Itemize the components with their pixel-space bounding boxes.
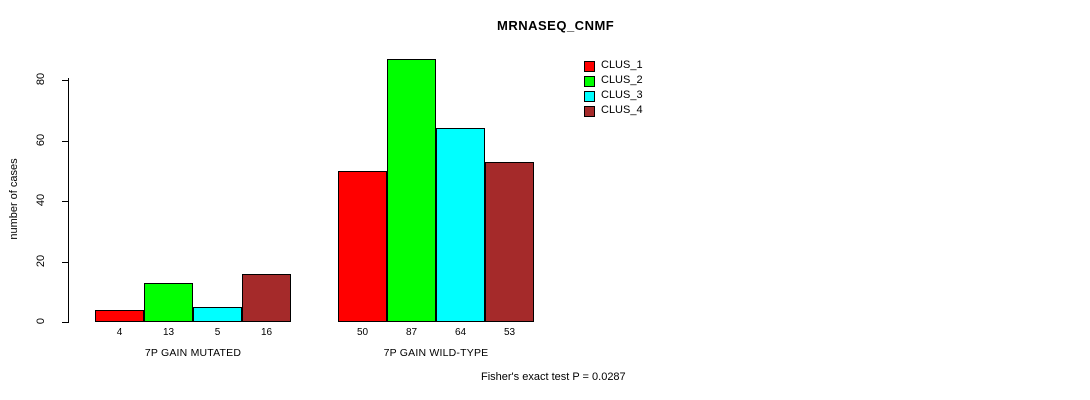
- bar-value-label: 50: [338, 327, 387, 338]
- bar-chart-figure: MRNASEQ_CNMF number of cases 020406080 4…: [0, 0, 1090, 400]
- bar: [436, 128, 485, 322]
- bar-value-label: 53: [485, 327, 534, 338]
- bar-value-label: 16: [242, 327, 291, 338]
- bar: [338, 171, 387, 322]
- bar: [242, 274, 291, 322]
- bar-value-label: 4: [95, 327, 144, 338]
- legend-item-label: CLUS_3: [601, 89, 643, 101]
- bar: [193, 307, 242, 322]
- legend-item-label: CLUS_2: [601, 74, 643, 86]
- legend-item-label: CLUS_1: [601, 59, 643, 71]
- legend-color-swatch: [584, 61, 595, 72]
- bar-value-label: 13: [144, 327, 193, 338]
- bar: [144, 283, 193, 322]
- statistical-test-annotation: Fisher's exact test P = 0.0287: [481, 371, 626, 383]
- legend-color-swatch: [584, 76, 595, 87]
- bar-value-label: 64: [436, 327, 485, 338]
- legend-color-swatch: [584, 91, 595, 102]
- legend-item-label: CLUS_4: [601, 104, 643, 116]
- bar: [485, 162, 534, 322]
- plot-area: 4135167P GAIN MUTATED508764537P GAIN WIL…: [0, 0, 1090, 400]
- x-axis-group-label: 7P GAIN WILD-TYPE: [338, 347, 534, 359]
- x-axis-group-label: 7P GAIN MUTATED: [95, 347, 291, 359]
- legend-color-swatch: [584, 106, 595, 117]
- bar-value-label: 87: [387, 327, 436, 338]
- bar-value-label: 5: [193, 327, 242, 338]
- bar: [95, 310, 144, 322]
- bar: [387, 59, 436, 322]
